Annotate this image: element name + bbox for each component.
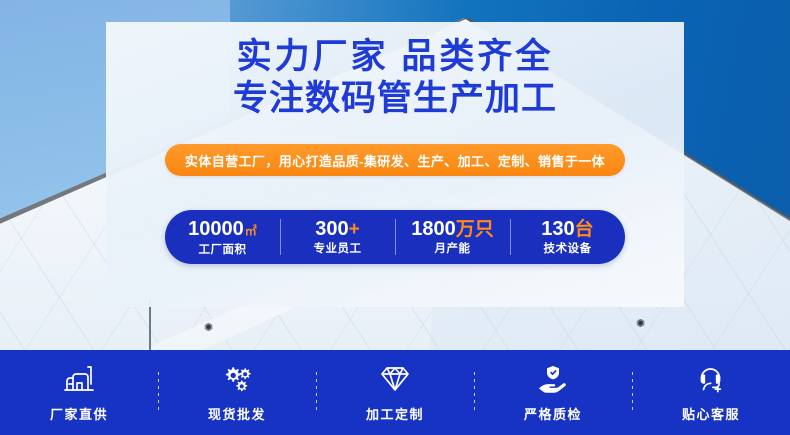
headset-support-icon — [694, 362, 728, 396]
ribbon-row: 实体自营工厂，用心打造品质-集研发、生产、加工、定制、销售于一体 — [0, 144, 790, 176]
stat-value-equipment: 130台 — [541, 218, 593, 241]
headline-line-1: 实力厂家 品类齐全 — [0, 36, 790, 78]
stat-value-staff: 300+ — [315, 218, 359, 241]
stat-number: 130 — [541, 218, 574, 240]
stat-number: 300 — [315, 218, 348, 240]
hand-shield-icon — [536, 362, 570, 396]
feature-label: 贴心客服 — [682, 404, 740, 423]
stat-item-equipment: 130台 技术设备 — [510, 210, 625, 264]
stat-label: 工厂面积 — [199, 243, 247, 257]
headline-line-2: 专注数码管生产加工 — [0, 78, 790, 120]
stats-bar: 10000㎡ 工厂面积 300+ 专业员工 1800万只 月产能 130台 技术… — [165, 210, 625, 264]
stat-number: 10000 — [188, 218, 244, 240]
feature-label: 加工定制 — [366, 404, 424, 423]
headline-block: 实力厂家 品类齐全 专注数码管生产加工 — [0, 36, 790, 120]
slogan-ribbon: 实体自营工厂，用心打造品质-集研发、生产、加工、定制、销售于一体 — [165, 144, 625, 176]
feature-label: 厂家直供 — [50, 404, 108, 423]
bird-detail-icon: ✺ — [204, 322, 222, 334]
feature-item-direct-supply[interactable]: 厂家直供 — [0, 350, 158, 435]
factory-icon — [62, 362, 96, 396]
feature-label: 现货批发 — [208, 404, 266, 423]
stat-unit: + — [349, 219, 360, 241]
stat-item-staff: 300+ 专业员工 — [280, 210, 395, 264]
stat-label: 技术设备 — [544, 242, 592, 256]
stat-value-monthly-capacity: 1800万只 — [411, 218, 494, 241]
stat-number: 1800 — [411, 218, 456, 240]
feature-label: 严格质检 — [524, 404, 582, 423]
promo-banner: ✺ ✺ 实力厂家 品类齐全 专注数码管生产加工 实体自营工厂，用心打造品质-集研… — [0, 0, 790, 435]
feature-bar: 厂家直供 现货批发 — [0, 350, 790, 435]
stat-unit: 台 — [575, 219, 594, 241]
stat-item-factory-area: 10000㎡ 工厂面积 — [165, 210, 280, 264]
feature-item-stock-wholesale[interactable]: 现货批发 — [158, 350, 316, 435]
feature-item-custom-processing[interactable]: 加工定制 — [316, 350, 474, 435]
light-pole — [149, 300, 151, 350]
stat-label: 专业员工 — [314, 242, 362, 256]
stat-item-monthly-capacity: 1800万只 月产能 — [395, 210, 510, 264]
feature-item-customer-service[interactable]: 贴心客服 — [632, 350, 790, 435]
stat-value-factory-area: 10000㎡ — [188, 218, 257, 242]
stat-label: 月产能 — [435, 242, 471, 256]
diamond-icon — [378, 362, 412, 396]
stat-unit: ㎡ — [245, 220, 257, 242]
bird-detail-icon-2: ✺ — [636, 318, 654, 330]
stat-unit: 万只 — [456, 219, 494, 241]
gears-icon — [220, 362, 254, 396]
feature-item-strict-inspection[interactable]: 严格质检 — [474, 350, 632, 435]
